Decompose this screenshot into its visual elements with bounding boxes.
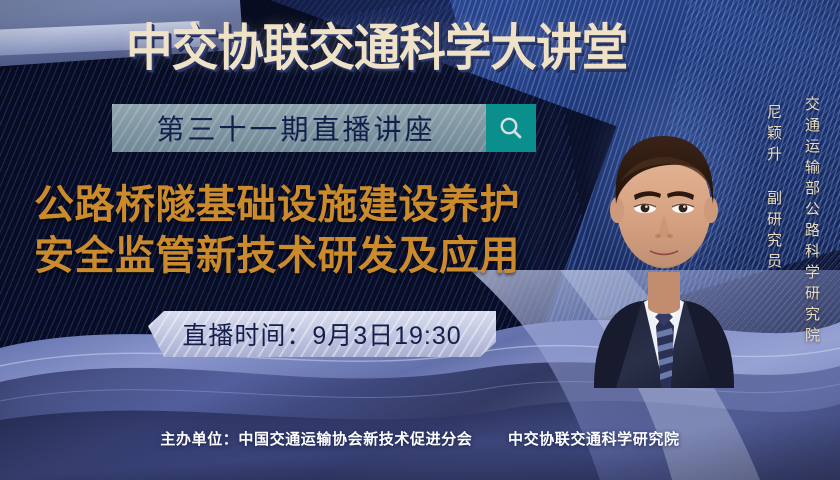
poster-canvas: 中交协联交通科学大讲堂 第三十一期直播讲座 公路桥隧基础设施建设养护 安全监管新… bbox=[0, 0, 840, 480]
episode-search-bar[interactable]: 第三十一期直播讲座 bbox=[112, 104, 536, 152]
organizer-footer: 主办单位：中国交通运输协会新技术促进分会 中交协联交通科学研究院 bbox=[0, 428, 840, 449]
search-input[interactable]: 第三十一期直播讲座 bbox=[112, 104, 486, 152]
subject-line-1: 公路桥隧基础设施建设养护 bbox=[34, 180, 579, 231]
live-time-text: 直播时间：9月3日19:30 bbox=[182, 316, 461, 352]
organizer-prefix: 主办单位：中国交通运输协会新技术促进分会 bbox=[160, 431, 472, 448]
live-time-badge: 直播时间：9月3日19:30 bbox=[148, 311, 496, 357]
speaker-name-title: 尼颖升 副研究员 bbox=[763, 104, 784, 284]
speaker-organization: 交通运输部公路科学研究院 bbox=[801, 96, 822, 356]
page-title: 中交协联交通科学大讲堂 bbox=[126, 18, 656, 80]
subject-line-2: 安全监管新技术研发及应用 bbox=[34, 231, 579, 282]
search-icon bbox=[498, 115, 524, 141]
organizer-suffix: 中交协联交通科学研究院 bbox=[508, 431, 680, 448]
lecture-subject-title: 公路桥隧基础设施建设养护 安全监管新技术研发及应用 bbox=[34, 180, 579, 282]
search-input-value: 第三十一期直播讲座 bbox=[156, 108, 441, 148]
search-button[interactable] bbox=[486, 104, 536, 152]
